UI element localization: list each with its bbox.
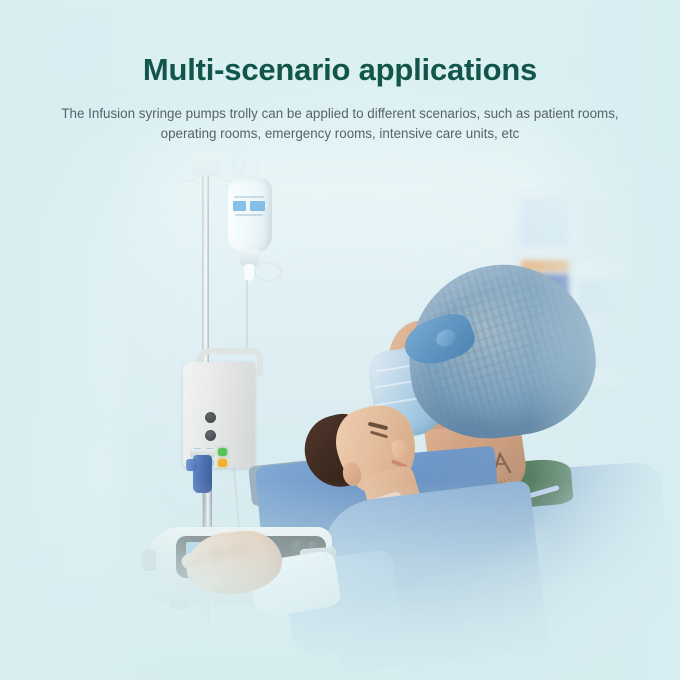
drip-chamber [244, 264, 254, 281]
lcd-text-line [36, 29, 54, 31]
lcd-text-line [42, 48, 55, 50]
label-line [234, 196, 264, 198]
trolley-post [200, 598, 206, 644]
cabinet-item [521, 198, 569, 248]
knuckle [206, 547, 227, 563]
label-line [235, 214, 263, 216]
page-title: Multi-scenario applications [0, 52, 680, 88]
banner-text-block: Multi-scenario applications The Infusion… [0, 52, 680, 145]
pump-door-latch[interactable] [82, 16, 99, 35]
label-block [250, 201, 265, 211]
pump-start-button[interactable] [218, 448, 227, 456]
lcd-volume-value [44, 37, 55, 45]
lcd-rate-value [21, 37, 41, 45]
pump-stop-button[interactable] [218, 459, 227, 467]
lcd-divider [12, 33, 58, 34]
cabinet-item [579, 262, 629, 276]
pump-clock-button[interactable] [205, 412, 216, 423]
finger [196, 576, 223, 592]
lcd-text-line [15, 29, 27, 31]
trolley-base [118, 640, 288, 649]
cabinet-shelf [517, 254, 633, 256]
syringe-pump-side-grip [142, 549, 156, 571]
page-subtitle: The Infusion syringe pumps trolly can be… [32, 104, 648, 146]
iv-tubing [246, 280, 248, 352]
pump-info-button[interactable] [205, 430, 216, 441]
label-block [233, 201, 246, 211]
knuckle [228, 542, 249, 558]
multi-scenario-applications-banner: Multi-scenario applications The Infusion… [0, 0, 680, 680]
iv-tubing-loop [254, 262, 282, 282]
iv-bottle-label [232, 196, 268, 218]
cabinet-item [579, 200, 629, 246]
syringe-pump-foot [170, 601, 190, 610]
pole-clamp-knob[interactable] [186, 459, 197, 471]
lcd-text-line [15, 48, 31, 50]
cabinet-item [579, 280, 629, 314]
